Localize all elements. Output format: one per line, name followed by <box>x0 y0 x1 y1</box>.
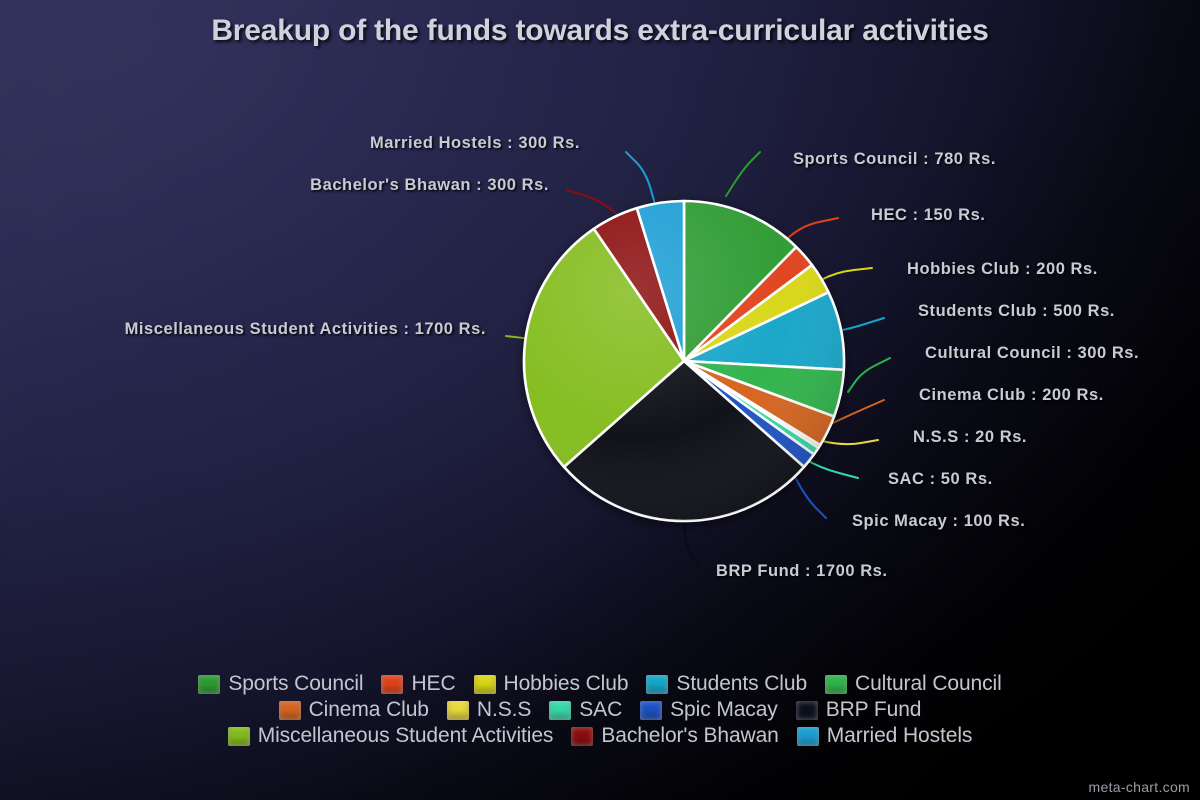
legend-item-label: BRP Fund <box>826 698 922 722</box>
legend-item[interactable]: Bachelor's Bhawan <box>571 724 778 748</box>
legend-item[interactable]: Spic Macay <box>640 698 778 722</box>
chart-legend: Sports CouncilHECHobbies ClubStudents Cl… <box>0 672 1200 748</box>
legend-item[interactable]: SAC <box>549 698 622 722</box>
legend-color-swatch <box>571 727 593 746</box>
legend-item-label: Hobbies Club <box>504 672 629 696</box>
slice-callout-label: Married Hostels : 300 Rs. <box>370 134 580 153</box>
legend-item-label: Cinema Club <box>309 698 429 722</box>
legend-color-swatch <box>474 675 496 694</box>
legend-item-label: N.S.S <box>477 698 531 722</box>
legend-row: Cinema ClubN.S.SSACSpic MacayBRP Fund <box>279 698 922 722</box>
legend-color-swatch <box>198 675 220 694</box>
legend-item[interactable]: Hobbies Club <box>474 672 629 696</box>
legend-item[interactable]: Miscellaneous Student Activities <box>228 724 554 748</box>
leader-line <box>684 521 700 568</box>
legend-item-label: Sports Council <box>228 672 363 696</box>
watermark: meta-chart.com <box>1089 779 1190 795</box>
slice-callout-label: HEC : 150 Rs. <box>871 206 985 225</box>
legend-color-swatch <box>447 701 469 720</box>
legend-item-label: Married Hostels <box>827 724 973 748</box>
legend-color-swatch <box>646 675 668 694</box>
legend-color-swatch <box>825 675 847 694</box>
legend-item-label: Bachelor's Bhawan <box>601 724 778 748</box>
legend-row: Sports CouncilHECHobbies ClubStudents Cl… <box>198 672 1001 696</box>
legend-item-label: Spic Macay <box>670 698 778 722</box>
legend-item[interactable]: Cinema Club <box>279 698 429 722</box>
pie-chart-figure: Breakup of the funds towards extra-curri… <box>0 0 1200 800</box>
legend-item[interactable]: Married Hostels <box>797 724 973 748</box>
slice-callout-label: SAC : 50 Rs. <box>888 470 993 489</box>
leader-line <box>848 358 890 392</box>
slice-callout-label: Cinema Club : 200 Rs. <box>919 386 1104 405</box>
legend-color-swatch <box>549 701 571 720</box>
slice-callout-label: Hobbies Club : 200 Rs. <box>907 260 1098 279</box>
pie-slices-group <box>524 201 844 521</box>
legend-item[interactable]: BRP Fund <box>796 698 922 722</box>
leader-line <box>626 152 656 208</box>
legend-color-swatch <box>279 701 301 720</box>
slice-callout-label: Bachelor's Bhawan : 300 Rs. <box>310 176 549 195</box>
slice-callout-label: Students Club : 500 Rs. <box>918 302 1115 321</box>
legend-color-swatch <box>228 727 250 746</box>
legend-item-label: HEC <box>411 672 455 696</box>
slice-callout-label: N.S.S : 20 Rs. <box>913 428 1027 447</box>
legend-item-label: Miscellaneous Student Activities <box>258 724 554 748</box>
slice-callout-label: Spic Macay : 100 Rs. <box>852 512 1025 531</box>
legend-color-swatch <box>381 675 403 694</box>
legend-item[interactable]: Sports Council <box>198 672 363 696</box>
legend-color-swatch <box>640 701 662 720</box>
legend-color-swatch <box>797 727 819 746</box>
legend-item[interactable]: Students Club <box>646 672 807 696</box>
slice-callout-label: Cultural Council : 300 Rs. <box>925 344 1139 363</box>
slice-callout-label: Miscellaneous Student Activities : 1700 … <box>125 320 486 339</box>
legend-item-label: SAC <box>579 698 622 722</box>
legend-item[interactable]: Cultural Council <box>825 672 1002 696</box>
slice-callout-label: Sports Council : 780 Rs. <box>793 150 996 169</box>
slice-callout-label: BRP Fund : 1700 Rs. <box>716 562 888 581</box>
legend-item-label: Cultural Council <box>855 672 1002 696</box>
legend-item[interactable]: HEC <box>381 672 455 696</box>
legend-row: Miscellaneous Student ActivitiesBachelor… <box>228 724 973 748</box>
legend-item-label: Students Club <box>676 672 807 696</box>
leader-line <box>726 152 760 196</box>
legend-color-swatch <box>796 701 818 720</box>
legend-item[interactable]: N.S.S <box>447 698 531 722</box>
